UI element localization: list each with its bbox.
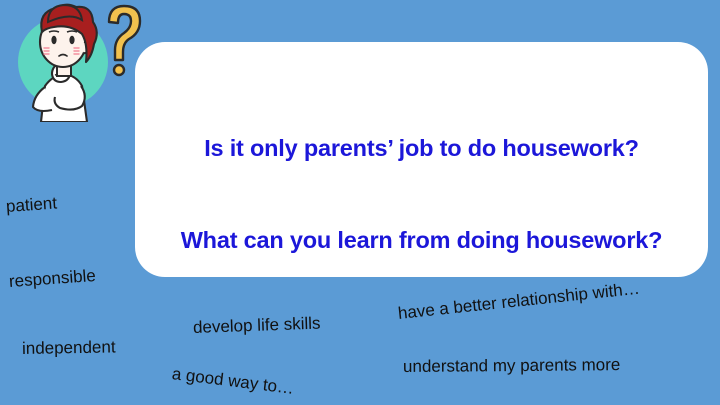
keyword-a-good-way-to: a good way to…: [171, 365, 295, 397]
keyword-responsible: responsible: [8, 267, 96, 290]
keyword-patient: patient: [5, 194, 57, 215]
question-card: Is it only parents’ job to do housework?…: [135, 42, 708, 277]
question-line-2: What can you learn from doing housework?: [135, 227, 708, 254]
keyword-understand-parents: understand my parents more: [403, 356, 620, 375]
slide-canvas: Is it only parents’ job to do housework?…: [0, 0, 720, 405]
keyword-independent: independent: [22, 338, 116, 357]
keyword-better-relationship: have a better relationship with…: [397, 280, 640, 322]
keyword-develop-life-skills: develop life skills: [193, 315, 321, 336]
thinking-girl-illustration: [8, 0, 153, 122]
girl-eye-left: [51, 36, 56, 44]
girl-eye-right: [69, 36, 74, 44]
question-line-1: Is it only parents’ job to do housework?: [135, 135, 708, 162]
